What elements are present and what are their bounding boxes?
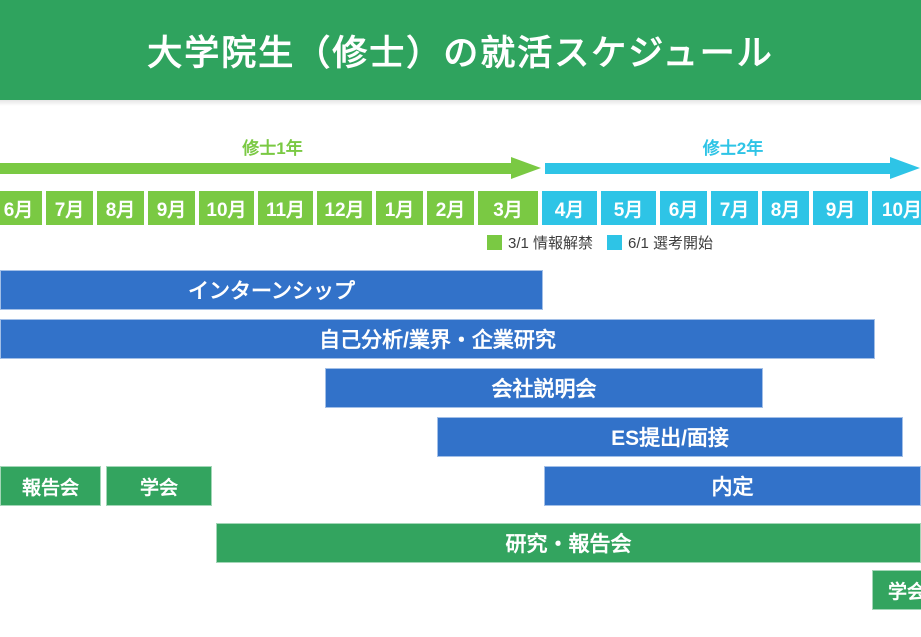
gantt-bar[interactable]: 学会 — [872, 570, 921, 610]
gantt-bar-label: ES提出/面接 — [611, 422, 729, 452]
gantt-bar-label: 自己分析/業界・企業研究 — [319, 324, 556, 354]
gantt-bar-label: 内定 — [712, 471, 754, 501]
gantt-bar[interactable]: 学会 — [106, 466, 212, 506]
gantt-bar-label: 報告会 — [22, 473, 79, 500]
gantt-bar-label: インターンシップ — [188, 275, 355, 305]
gantt-bar-label: 会社説明会 — [492, 373, 597, 403]
gantt-bar[interactable]: 研究・報告会 — [216, 523, 921, 563]
gantt-bar-label: 学会 — [888, 577, 921, 604]
gantt-bar[interactable]: 内定 — [544, 466, 921, 506]
gantt-bar[interactable]: インターンシップ — [0, 270, 543, 310]
gantt-bars: インターンシップ自己分析/業界・企業研究会社説明会ES提出/面接内定報告会学会研… — [0, 0, 921, 637]
gantt-bar-label: 学会 — [140, 473, 178, 500]
gantt-bar[interactable]: ES提出/面接 — [437, 417, 903, 457]
gantt-bar[interactable]: 自己分析/業界・企業研究 — [0, 319, 875, 359]
gantt-bar-label: 研究・報告会 — [506, 528, 632, 558]
gantt-bar[interactable]: 会社説明会 — [325, 368, 763, 408]
gantt-bar[interactable]: 報告会 — [0, 466, 101, 506]
